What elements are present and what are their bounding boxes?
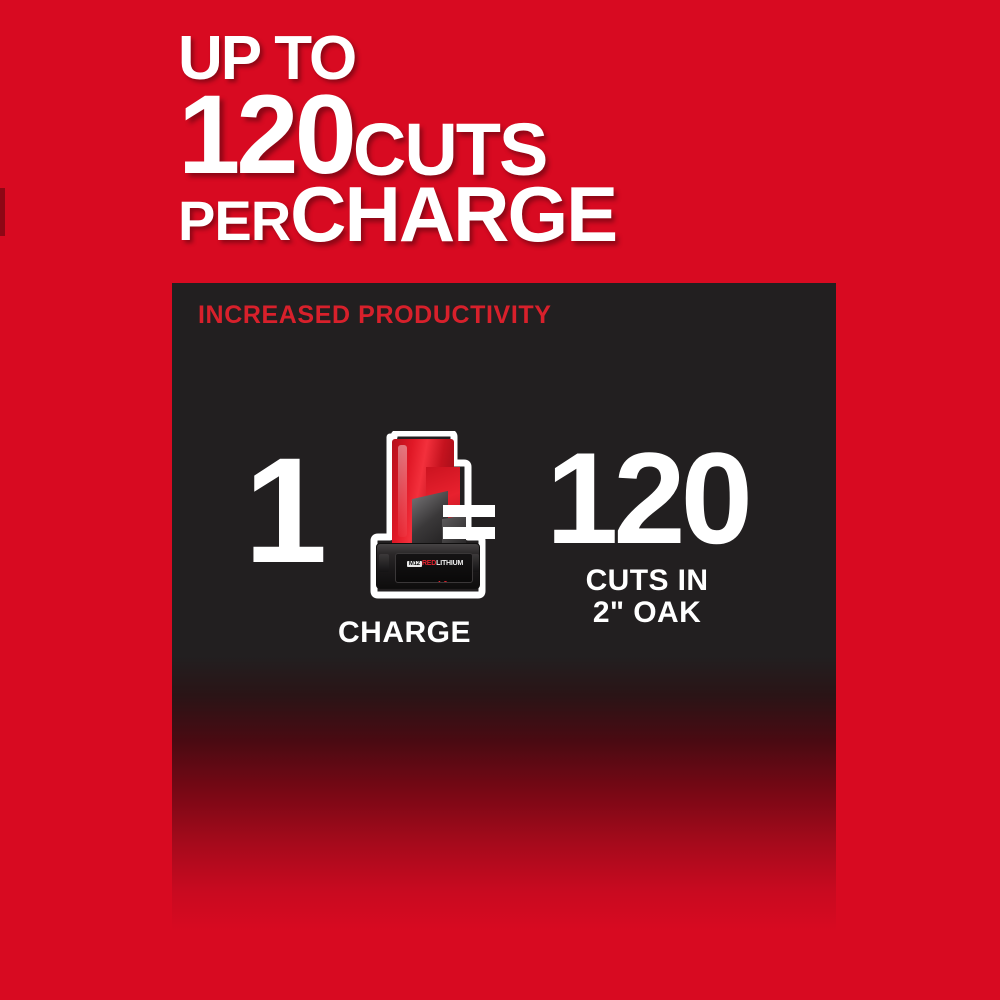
battery-label-line-1: M12REDLITHIUM <box>396 556 473 573</box>
equals-sign <box>443 505 495 539</box>
battery-label-text: M12REDLITHIUM XC 4.0 <box>396 556 473 583</box>
charge-count-value: 1 <box>244 435 321 585</box>
battery-chemistry-white: LITHIUM <box>436 560 463 567</box>
equation-left-group: 1 <box>244 443 489 693</box>
promo-graphic: UP TO 120 CUTS PER CHARGE INCREASED PROD… <box>0 0 1000 1000</box>
battery-chemistry-red: RED <box>422 560 436 567</box>
headline-charge: CHARGE <box>290 181 616 248</box>
equals-bar-bottom <box>443 527 495 539</box>
cuts-count-value: 120 <box>527 439 767 559</box>
headline-line-2: 120 CUTS <box>178 87 898 183</box>
headline-block: UP TO 120 CUTS PER CHARGE <box>178 30 898 248</box>
cuts-label-line-2: 2" OAK <box>527 597 767 629</box>
productivity-panel: INCREASED PRODUCTIVITY 1 <box>172 283 836 938</box>
cuts-label-group: CUTS IN 2" OAK <box>527 565 767 630</box>
battery-label-line-2: XC 4.0 <box>396 575 473 583</box>
battery-label-plate: M12REDLITHIUM XC 4.0 <box>395 553 473 583</box>
battery-rail-left <box>379 554 389 572</box>
battery-capacity: 4.0 <box>437 580 448 583</box>
panel-title: INCREASED PRODUCTIVITY <box>198 301 552 330</box>
charge-label: CHARGE <box>338 618 471 649</box>
headline-per: PER <box>178 197 290 248</box>
battery-series: XC <box>422 582 432 583</box>
left-edge-artifact <box>0 188 5 236</box>
headline-number: 120 <box>178 87 353 183</box>
battery-brand-badge: M12 <box>407 561 422 567</box>
equals-bar-top <box>443 505 495 517</box>
equation-right-group: 120 CUTS IN 2" OAK <box>527 439 807 629</box>
equation-row: 1 <box>172 443 836 703</box>
battery-tool-highlight <box>398 445 407 537</box>
headline-line-3: PER CHARGE <box>178 181 898 248</box>
battery-pack-body: M12REDLITHIUM XC 4.0 <box>376 543 480 589</box>
